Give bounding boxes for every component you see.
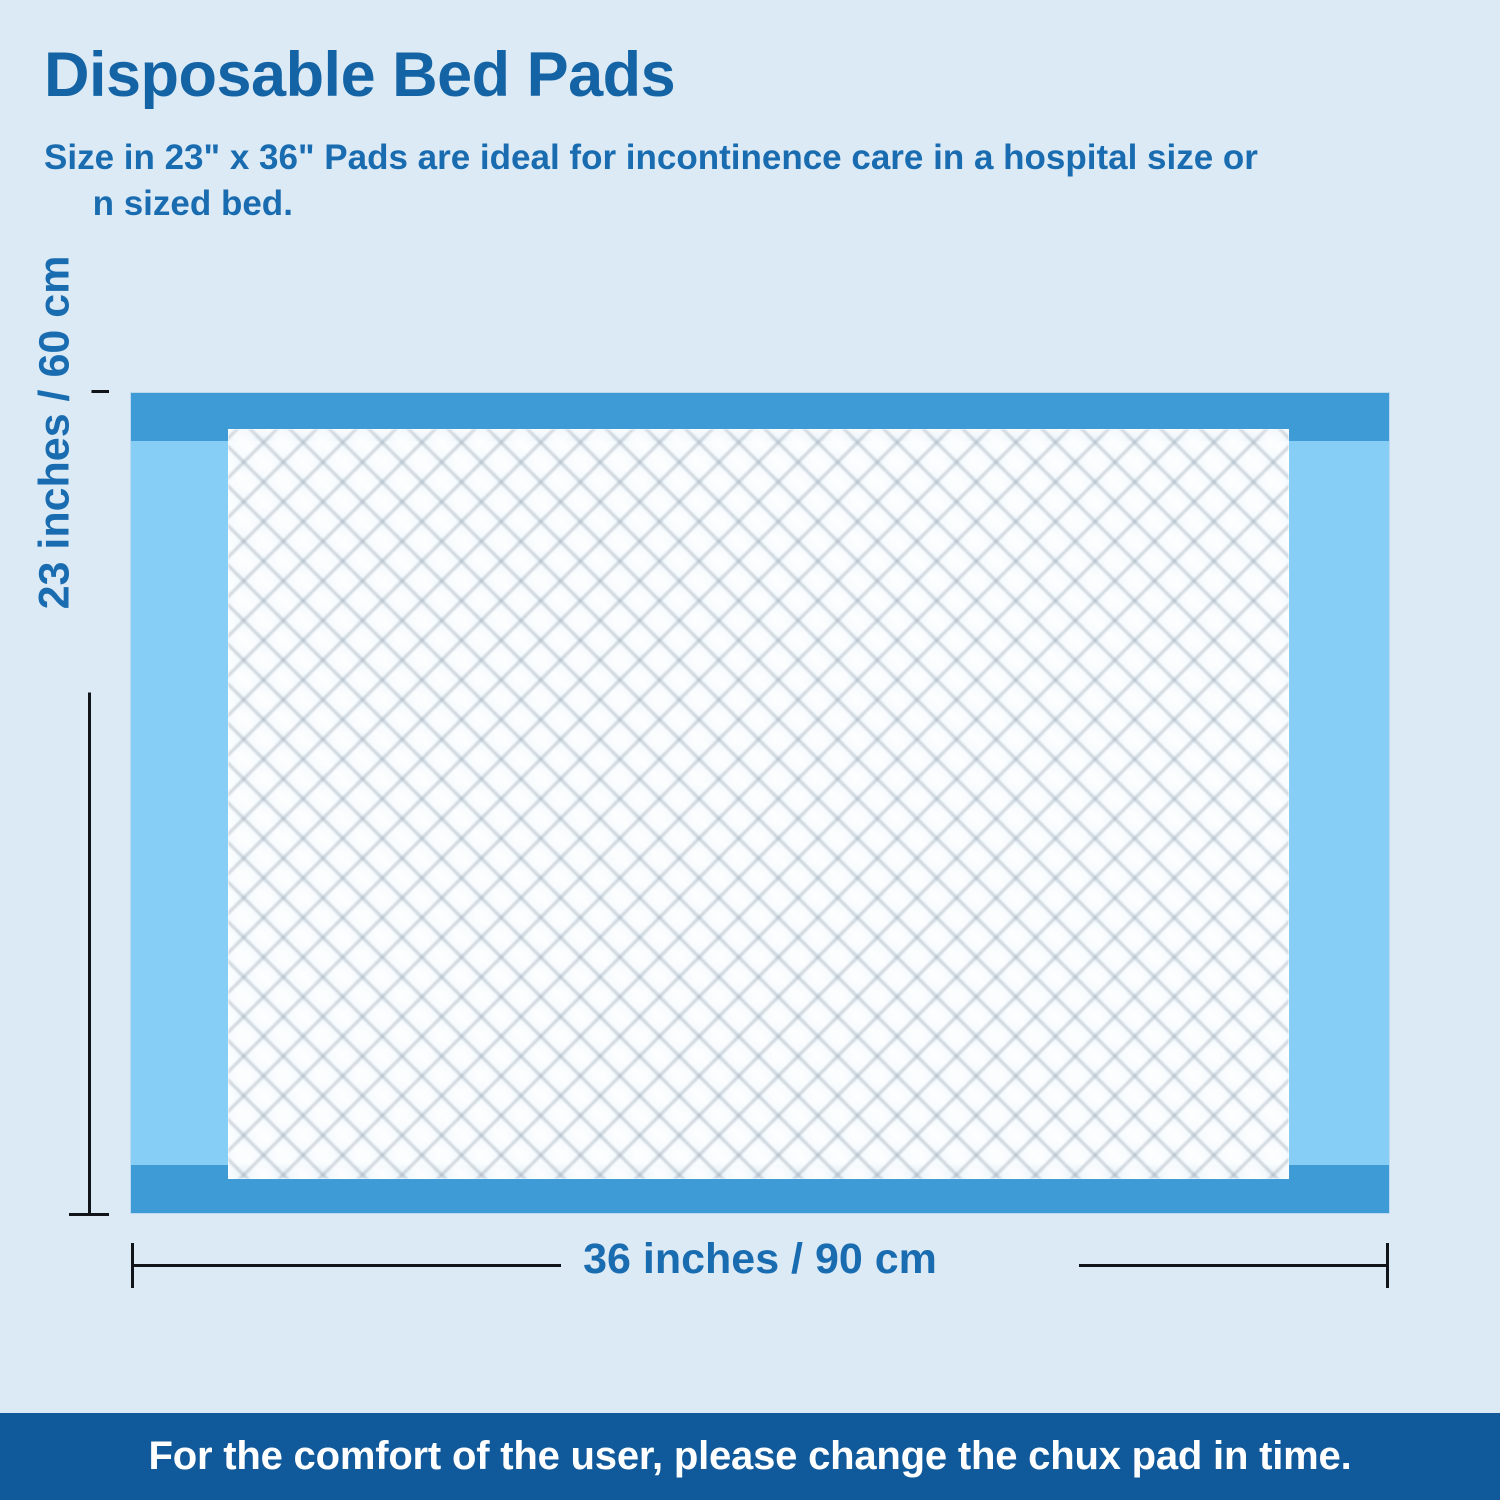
page-title: Disposable Bed Pads — [44, 44, 1344, 107]
height-dimension-label: 23 inches / 60 cm — [19, 173, 92, 693]
pad-quilted-surface — [228, 429, 1289, 1179]
width-dimension-cap-right — [1386, 1243, 1389, 1288]
width-dimension-stroke-right — [1079, 1264, 1389, 1267]
page-subtitle: Size in 23" x 36" Pads are ideal for inc… — [44, 135, 1299, 227]
width-dimension-line: 36 inches / 90 cm — [128, 1238, 1392, 1296]
header-block: Disposable Bed Pads Size in 23" x 36" Pa… — [44, 44, 1344, 227]
footer-message: For the comfort of the user, please chan… — [149, 1434, 1352, 1479]
height-dimension-cap-bottom — [69, 1213, 109, 1216]
bed-pad-illustration — [131, 393, 1389, 1213]
product-infographic: Disposable Bed Pads Size in 23" x 36" Pa… — [0, 0, 1500, 1500]
width-dimension-label: 36 inches / 90 cm — [128, 1235, 1392, 1284]
pad-surface-highlight — [228, 429, 1289, 441]
footer-banner: For the comfort of the user, please chan… — [0, 1413, 1500, 1500]
